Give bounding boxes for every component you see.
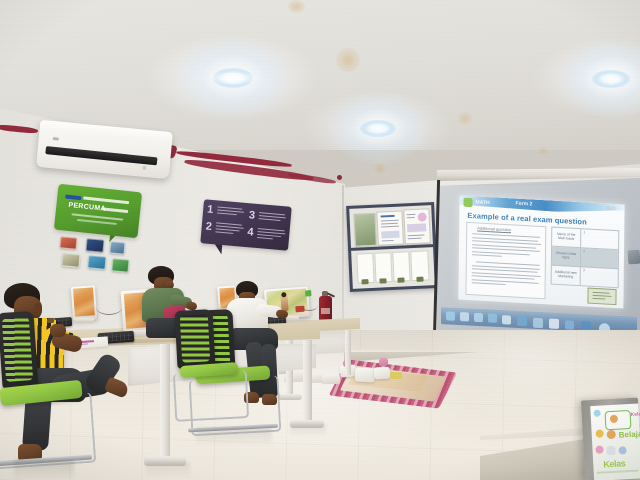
projection-screen-surface: MATH Form 2 2023 Example of a real exam … xyxy=(437,178,640,342)
slide-table-number-2: 2 xyxy=(583,249,585,253)
classroom-photo: PERCUMA 1 2 3 4 xyxy=(0,0,640,480)
ceiling-stain-b xyxy=(288,0,305,13)
ceiling-downlight-left-flare xyxy=(208,72,258,84)
monitor-cable-3 xyxy=(300,300,318,311)
slide-table-answer-cell: 3 xyxy=(581,267,618,287)
slide-par-l14 xyxy=(472,282,506,285)
green-poster-line-2 xyxy=(102,207,128,213)
white-bag-2[interactable] xyxy=(355,367,376,382)
taskbar-icon-7 xyxy=(533,318,543,329)
chair-2-back[interactable] xyxy=(175,309,216,369)
step-1-line-3 xyxy=(217,212,237,215)
board-poster-text[interactable] xyxy=(376,210,404,245)
numbered-steps-poster[interactable]: 1 2 3 4 xyxy=(200,199,292,251)
green-poster-flag-bar xyxy=(65,195,81,201)
slide-table-answer-cell: 1 xyxy=(581,229,618,249)
slide-table-label-cell: Name of the Main basis xyxy=(552,228,581,248)
icon-card-globe[interactable] xyxy=(87,255,106,270)
slide-table-label-3b: Marketing xyxy=(558,274,573,279)
slide-stamp-line-3 xyxy=(592,298,605,300)
monitor-1-screen xyxy=(73,287,95,316)
board-clip-1 xyxy=(361,279,368,284)
board-poster-text-l1 xyxy=(381,220,399,222)
slide-table-answer-cell: 2 xyxy=(581,248,618,268)
chair-1-back[interactable] xyxy=(0,311,39,389)
board-poster-chart-pie xyxy=(417,212,426,221)
board-poster-chart-l3 xyxy=(407,235,424,237)
chair-1-mesh xyxy=(2,317,33,382)
board-poster-text-l3 xyxy=(381,226,399,228)
projection-screen[interactable]: MATH Form 2 2023 Example of a real exam … xyxy=(437,168,640,352)
banner-callout-box xyxy=(605,410,632,430)
slide-stamp-line-2 xyxy=(593,295,612,297)
step-number-4: 4 xyxy=(247,227,254,238)
slide-par-l7 xyxy=(472,254,502,257)
student-foreground-face-shadow xyxy=(34,303,42,314)
wall-mounted-device[interactable] xyxy=(628,250,640,265)
air-conditioner-sensor xyxy=(142,166,146,170)
green-poster-line-4 xyxy=(77,219,117,225)
white-bag-3[interactable] xyxy=(374,367,391,380)
banner-tag: Kelas xyxy=(631,411,640,418)
banner-footer-rule xyxy=(597,470,639,474)
ceiling-downlight-right xyxy=(592,70,630,88)
chair-2-frame xyxy=(173,370,249,422)
board-poster-text-block xyxy=(381,231,399,239)
ceiling-stain-a xyxy=(336,48,360,72)
ceiling-stain-d xyxy=(374,163,386,174)
icon-card-laptop[interactable] xyxy=(111,258,129,272)
taskbar-icon-1 xyxy=(446,311,455,320)
taskbar-icon-2 xyxy=(460,312,469,321)
projected-slide: MATH Form 2 2023 Example of a real exam … xyxy=(458,195,624,308)
board-poster-chart-l4 xyxy=(408,238,422,240)
desk-front-leg-2 xyxy=(303,340,312,424)
slide-table-label-cell: Chosen class topic xyxy=(552,247,581,267)
board-poster-chart-l2 xyxy=(407,217,415,218)
floor-reflection-desk-leg-2 xyxy=(290,424,326,438)
board-poster-chart-block xyxy=(407,223,426,232)
taskbar-icon-9 xyxy=(565,320,574,329)
standing-display-banner-face: Kelas Belajar Kelas xyxy=(590,404,640,480)
slide-text-box-heading: Additional question xyxy=(477,225,511,232)
slide-logo-icon xyxy=(463,197,472,206)
step-number-3: 3 xyxy=(248,210,255,221)
monitor-1-stand xyxy=(74,318,94,323)
chair-2-mesh xyxy=(180,314,210,362)
slide-table-row: Additional new Marketing 3 xyxy=(552,266,618,288)
slide-table-label-1b: Main basis xyxy=(558,236,574,241)
standing-display-banner[interactable]: Kelas Belajar Kelas xyxy=(581,398,640,480)
taskbar-icon-3 xyxy=(474,313,483,322)
desk-front-leg-1 xyxy=(160,344,170,462)
board-clip-2 xyxy=(379,278,386,283)
board-clip-4 xyxy=(416,277,423,282)
air-conditioner-indicator-led xyxy=(53,137,59,141)
slide-answer-table: Name of the Main basis 1 Chosen class to… xyxy=(551,227,620,289)
green-poster-line-1 xyxy=(83,196,129,203)
floor-reflection-chair-3 xyxy=(196,428,272,446)
banner-icon-heart xyxy=(595,445,603,453)
slide-logo-stamp xyxy=(587,288,616,306)
wall-stripe-endpoint xyxy=(337,175,342,180)
slide-subject-badge: MATH xyxy=(476,199,490,206)
pink-item-2[interactable] xyxy=(379,358,388,366)
step-4-line-4 xyxy=(257,237,273,240)
slide-table-label-cell: Additional new Marketing xyxy=(552,266,581,286)
taskbar-icon-6 xyxy=(517,316,527,327)
taskbar-icon-4 xyxy=(488,313,497,322)
floor-reflection-desk-leg xyxy=(146,462,190,478)
board-poster-text-title xyxy=(381,215,395,217)
board-poster-text-l4 xyxy=(382,240,394,242)
ceiling-stain-e xyxy=(538,146,549,156)
yellow-item[interactable] xyxy=(390,372,402,379)
slide-level-badge: Form 2 xyxy=(516,201,533,208)
banner-icon-globe xyxy=(618,446,626,454)
desk-back-foot-1 xyxy=(278,394,302,400)
white-box-3[interactable] xyxy=(322,375,340,384)
board-clip-3 xyxy=(397,277,404,282)
icon-card-network[interactable] xyxy=(85,238,104,253)
step-3-line-3 xyxy=(259,218,281,221)
banner-icon-star xyxy=(595,429,603,437)
icon-card-handshake[interactable] xyxy=(61,253,80,268)
student-foreground-wristband xyxy=(47,318,54,323)
step-2-line-4 xyxy=(215,231,233,234)
board-poster-chart-l1 xyxy=(407,214,416,215)
slide-stamp-line-1 xyxy=(593,292,610,294)
taskbar-icon-8 xyxy=(549,319,559,330)
fire-extinguisher-label xyxy=(321,308,330,314)
slide-table-number-1: 1 xyxy=(583,230,585,234)
board-poster-map[interactable] xyxy=(353,213,376,247)
notice-board[interactable] xyxy=(346,202,438,292)
monitor-1[interactable] xyxy=(71,285,97,321)
banner-icon-doc xyxy=(606,446,615,455)
floor-reflection-chair-1 xyxy=(14,460,74,480)
monitor-4-asset-tag-sticker xyxy=(305,290,311,296)
slide-text-box: Additional question xyxy=(465,222,546,299)
projection-screen-casing xyxy=(437,168,640,181)
student-foreground-hand xyxy=(50,324,66,337)
monitor-cable-1 xyxy=(96,300,122,315)
icon-card-monitor[interactable] xyxy=(110,241,126,254)
slide-year: 2023 xyxy=(606,205,616,211)
board-poster-chart[interactable] xyxy=(403,208,431,244)
banner-footer-text: Kelas xyxy=(603,458,626,469)
icon-card-classroom[interactable] xyxy=(60,236,78,249)
slide-table-number-3: 3 xyxy=(583,268,585,272)
step-number-2: 2 xyxy=(205,222,212,233)
desk-back-leg-2 xyxy=(345,330,351,375)
banner-icon-bubble xyxy=(593,410,600,417)
slide-table-label-2a: Chosen class topic xyxy=(556,251,576,260)
green-poster-headline: PERCUMA xyxy=(68,202,106,213)
step-number-1: 1 xyxy=(207,205,214,216)
student-back-hand xyxy=(276,309,289,319)
taskbar-icon-5 xyxy=(502,315,511,324)
board-poster-text-l2 xyxy=(381,223,398,225)
green-speech-bubble-poster[interactable]: PERCUMA xyxy=(54,184,142,239)
air-conditioner-vent xyxy=(45,146,157,165)
banner-headline: Belajar xyxy=(619,429,640,439)
ceiling-stain-c xyxy=(458,112,472,125)
banner-icon-person xyxy=(607,430,616,439)
ceiling-downlight-center xyxy=(360,120,396,137)
